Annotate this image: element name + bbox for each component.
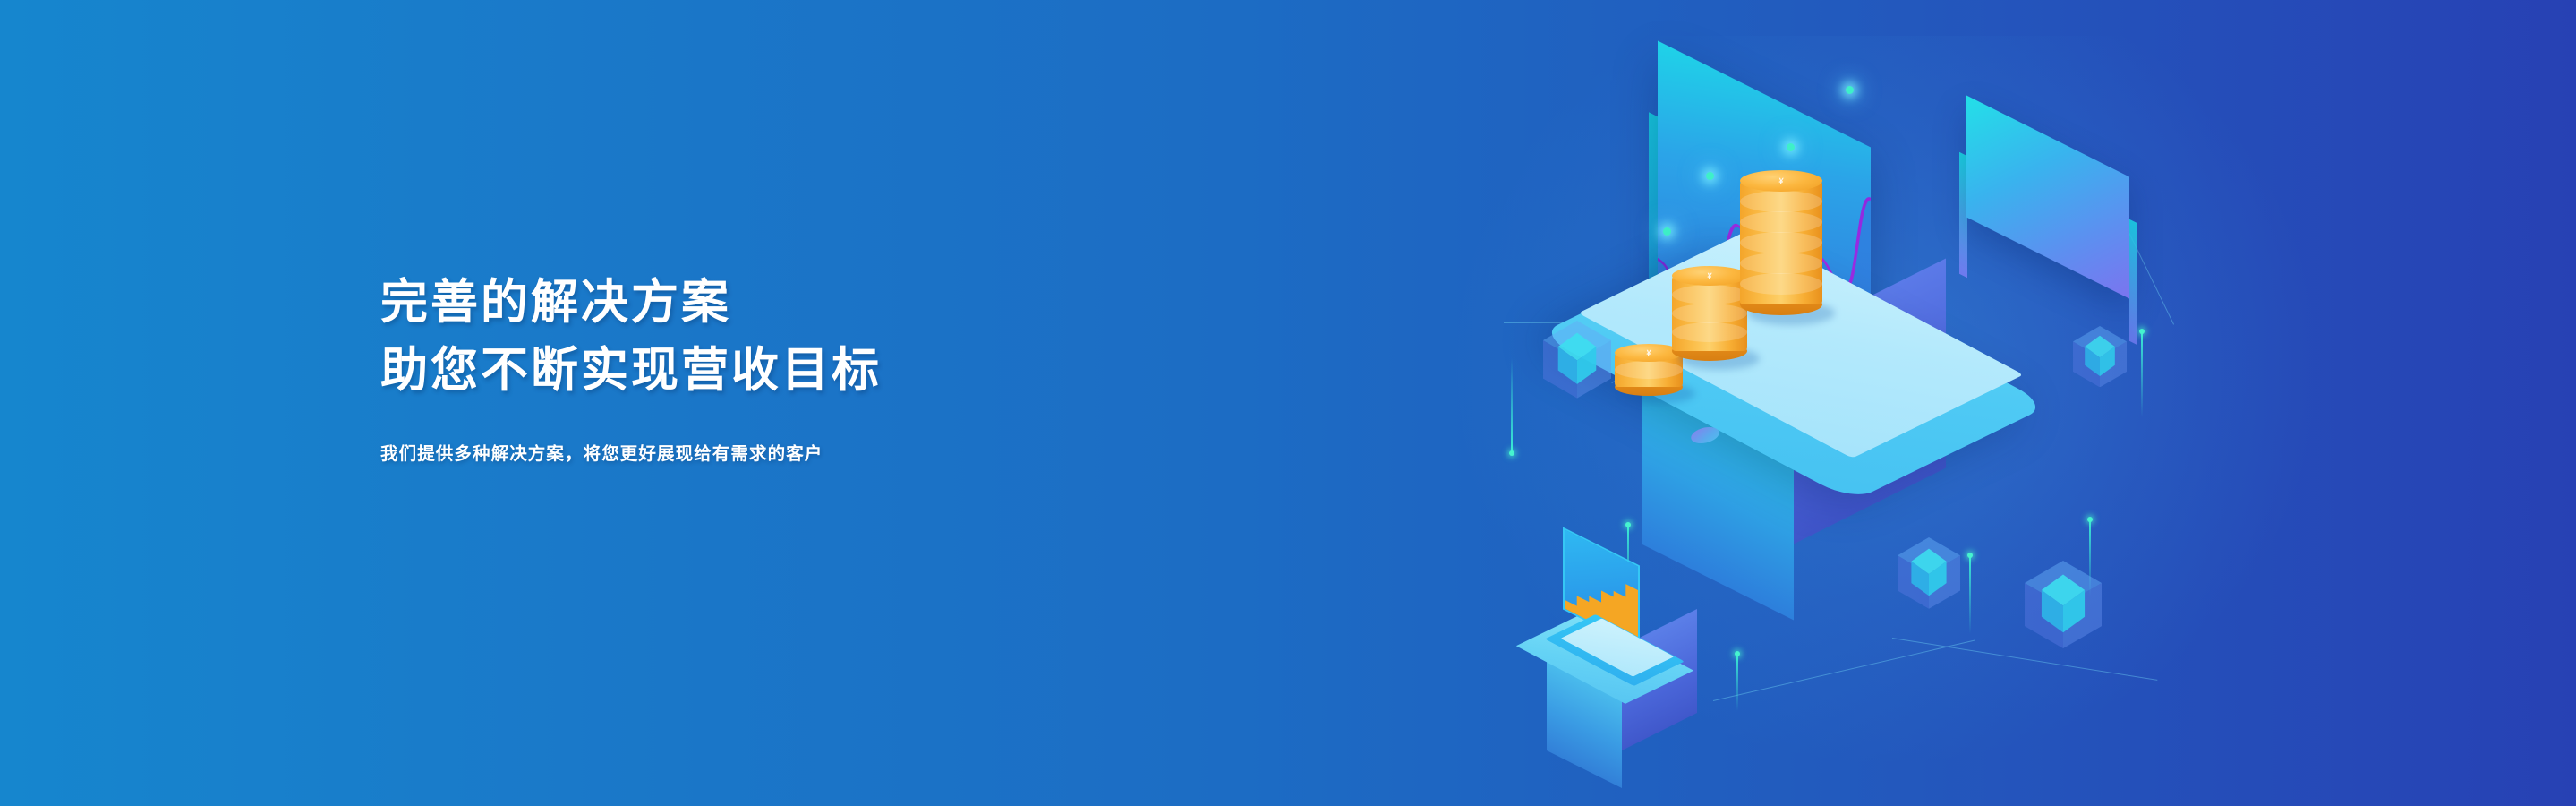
cubes-group: [1522, 36, 2202, 779]
cube-right-upper: [2025, 561, 2102, 648]
cube-left: [1543, 321, 1611, 399]
hero-copy-block: 完善的解决方案 助您不断实现营收目标 我们提供多种解决方案，将您更好展现给有需求…: [380, 269, 1365, 465]
light-streak-2: [1511, 358, 1513, 453]
cube-right-lower: [2073, 326, 2127, 387]
hero-banner: 完善的解决方案 助您不断实现营收目标 我们提供多种解决方案，将您更好展现给有需求…: [0, 0, 2576, 806]
hero-subtitle: 我们提供多种解决方案，将您更好展现给有需求的客户: [380, 439, 1365, 465]
headline-line-1: 完善的解决方案: [380, 269, 1365, 337]
cube-center: [1898, 537, 1960, 609]
isometric-growth-illustration: ¥¥¥: [1522, 36, 2202, 779]
headline-line-2: 助您不断实现营收目标: [380, 337, 1365, 405]
